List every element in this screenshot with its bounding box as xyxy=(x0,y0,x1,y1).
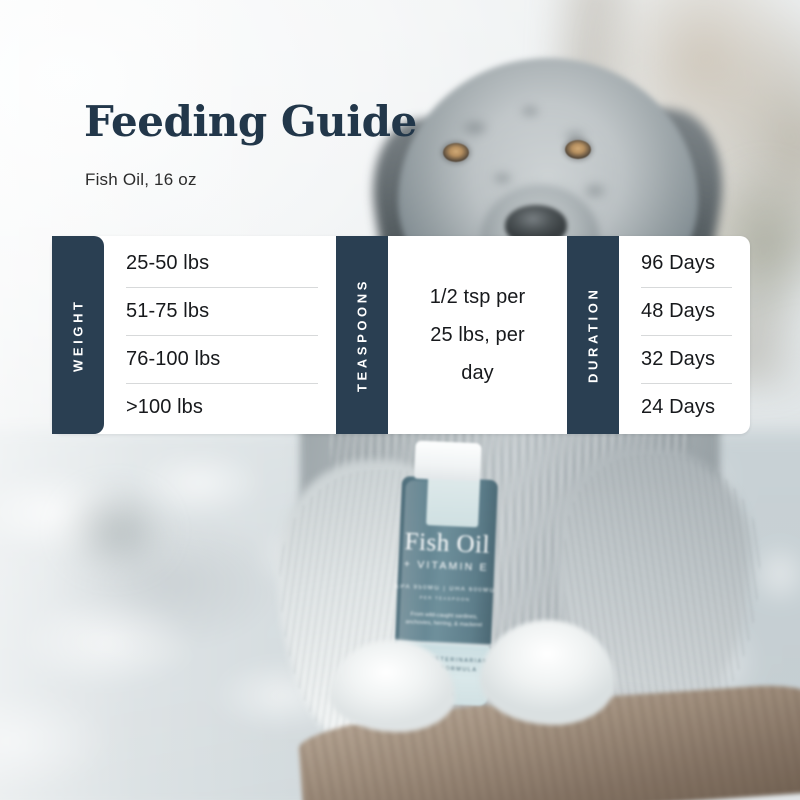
dose-line-2: 25 lbs, per xyxy=(430,316,526,354)
dose-instruction: 1/2 tsp per 25 lbs, per day xyxy=(430,278,526,392)
table-row: 48 Days xyxy=(641,288,732,336)
column-teaspoons-value: 1/2 tsp per 25 lbs, per day xyxy=(388,236,567,434)
page-subtitle: Fish Oil, 16 oz xyxy=(85,170,197,190)
dose-line-1: 1/2 tsp per xyxy=(430,278,526,316)
feeding-guide-infographic: Fish Oil + VITAMIN E EPA 950MG | DHA 600… xyxy=(0,0,800,800)
column-duration-values: 96 Days 48 Days 32 Days 24 Days xyxy=(619,236,750,434)
column-weight-values: 25-50 lbs 51-75 lbs 76-100 lbs >100 lbs xyxy=(104,236,336,434)
table-row: 76-100 lbs xyxy=(126,336,318,384)
table-row: 51-75 lbs xyxy=(126,288,318,336)
table-row: 96 Days xyxy=(641,240,732,288)
table-row: 24 Days xyxy=(641,384,732,431)
column-header-duration: DURATION xyxy=(567,236,619,434)
column-header-teaspoons: TEASPOONS xyxy=(336,236,388,434)
column-header-weight: WEIGHT xyxy=(52,236,104,434)
dose-line-3: day xyxy=(430,354,526,392)
table-row: >100 lbs xyxy=(126,384,318,431)
feeding-guide-table: WEIGHT 25-50 lbs 51-75 lbs 76-100 lbs >1… xyxy=(52,236,750,434)
table-row: 25-50 lbs xyxy=(126,240,318,288)
table-row: 32 Days xyxy=(641,336,732,384)
page-title: Feeding Guide xyxy=(84,101,417,143)
